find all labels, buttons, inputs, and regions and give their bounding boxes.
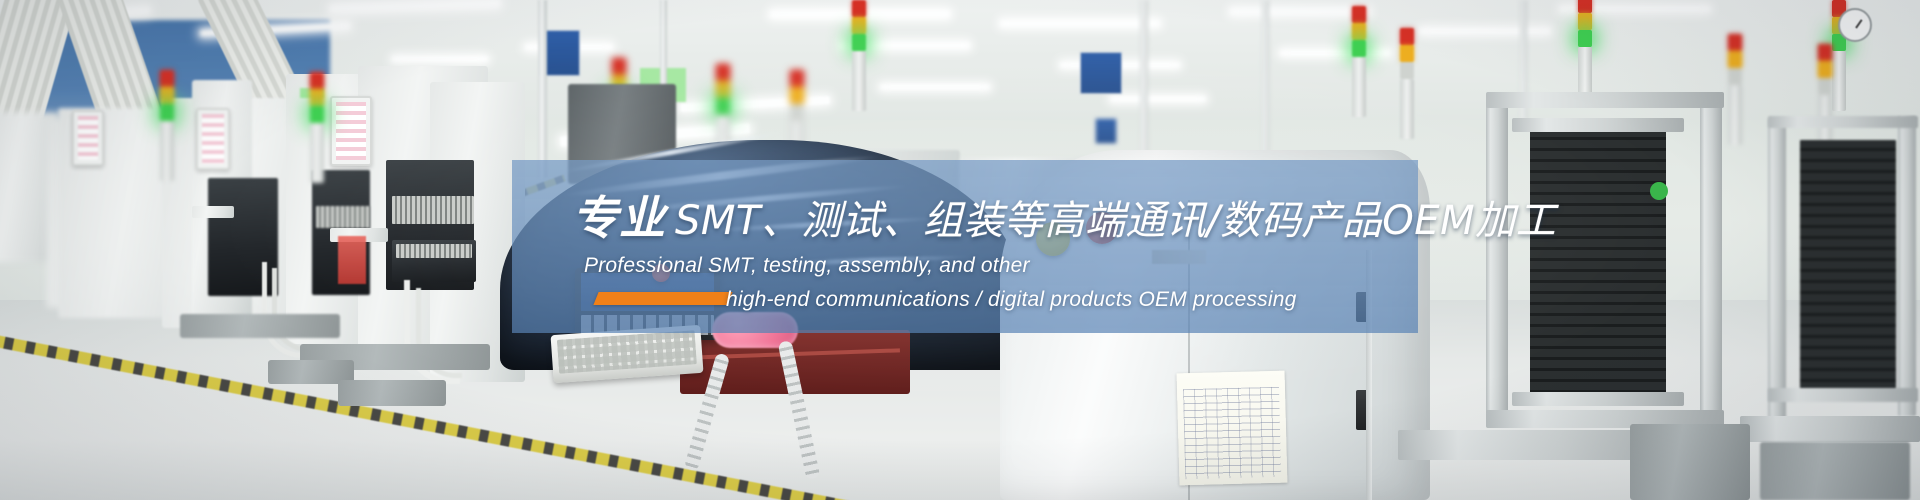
rack-crossbar [1512, 118, 1684, 132]
rack-crossbar [1768, 116, 1918, 128]
component-feeder-bank [316, 206, 370, 228]
machine-base [180, 314, 340, 338]
andon-tower-light [1352, 6, 1366, 117]
andon-tower-light [1728, 34, 1742, 145]
ceiling-light [1000, 20, 1160, 27]
machine-hmi-panel [330, 96, 372, 166]
headline-rest: SMT、测试、组装等高端通讯/数码产品OEM加工 [675, 198, 1556, 244]
andon-tower-light [1818, 44, 1832, 155]
overhead-sign [1095, 118, 1117, 144]
pcb-magazine [1530, 118, 1666, 406]
andon-tower-light [310, 72, 324, 183]
process-checklist-document [1177, 371, 1288, 486]
andon-tower-light [160, 70, 174, 181]
andon-tower-light [852, 0, 866, 111]
rack-crossbar [1512, 392, 1684, 406]
wall-clock [1838, 8, 1872, 42]
andon-tower-light [1578, 0, 1592, 107]
machine-step-platform [338, 380, 446, 406]
ceiling-light [1420, 28, 1550, 34]
conveyor-cabinet [1630, 424, 1750, 500]
ceiling-light [1230, 8, 1370, 15]
hero-banner: 专业SMT、测试、组装等高端通讯/数码产品OEM加工 Professional … [0, 0, 1920, 500]
support-pole [538, 0, 547, 178]
machine-hmi-panel [196, 108, 230, 170]
pcb-magazine-rack [1486, 96, 1508, 426]
headline-keyword: 专业 [572, 191, 666, 245]
banner-headline: 专业SMT、测试、组装等高端通讯/数码产品OEM加工 [572, 182, 1556, 248]
ceiling-light [392, 56, 488, 62]
banner-subtitle-line-2: high-end communications / digital produc… [726, 288, 1297, 312]
component-feeder-bank [392, 196, 474, 224]
ceiling-light [1110, 96, 1206, 102]
ceiling-light [1280, 50, 1390, 56]
pcb-magazine-rack [1486, 92, 1724, 108]
keyboard-tray [192, 206, 234, 218]
banner-subtitle-line-1: Professional SMT, testing, assembly, and… [584, 254, 1030, 278]
conveyor-frame [1740, 416, 1920, 442]
overhead-sign [1080, 52, 1122, 94]
machine-hmi-panel [72, 110, 104, 166]
pcb-magazine [1800, 140, 1896, 390]
pcb-magazine-rack [1700, 92, 1722, 432]
orange-accent-bar [593, 292, 732, 305]
rack-crossbar [1768, 388, 1918, 402]
andon-tower-light [1400, 28, 1414, 139]
ceiling-light [880, 84, 990, 90]
support-pole [1262, 0, 1269, 160]
green-status-dot [1650, 182, 1668, 200]
pcb-magazine-rack [1898, 116, 1916, 416]
pcb-magazine-rack [1768, 118, 1786, 418]
banner-text-overlay: 专业SMT、测试、组装等高端通讯/数码产品OEM加工 Professional … [512, 160, 1418, 333]
warning-sheet [338, 236, 366, 284]
component-feeder-bank [396, 244, 472, 258]
conveyor-cabinet [1760, 442, 1910, 500]
